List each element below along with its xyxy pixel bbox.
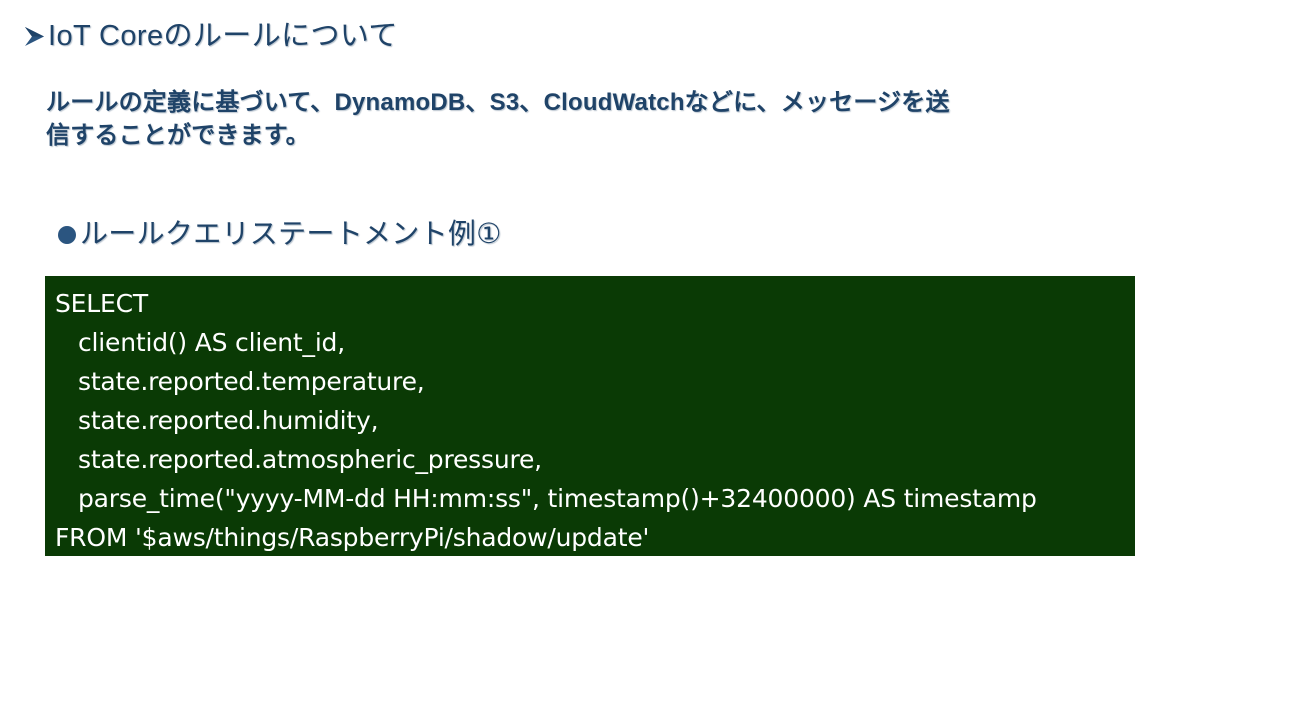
body-paragraph-line-1: ルールの定義に基づいて、DynamoDB、S3、CloudWatchなどに、メッ… <box>46 86 1116 119</box>
code-line: state.reported.temperature, <box>45 362 1135 401</box>
code-line: parse_time("yyyy-MM-dd HH:mm:ss", timest… <box>45 479 1135 518</box>
code-line: state.reported.humidity, <box>45 401 1135 440</box>
sql-code-block: SELECT clientid() AS client_id, state.re… <box>45 276 1135 556</box>
slide-canvas: IoT Coreのルールについて ルールの定義に基づいて、DynamoDB、S3… <box>0 0 1292 703</box>
section-subheading-label: ルールクエリステートメント例① <box>80 215 502 253</box>
arrowhead-bullet-icon <box>22 20 48 54</box>
code-line: SELECT <box>45 284 1135 323</box>
section-subheading: ルールクエリステートメント例① <box>56 215 502 253</box>
slide-title: IoT Coreのルールについて <box>22 18 398 54</box>
code-line: FROM '$aws/things/RaspberryPi/shadow/upd… <box>45 518 1135 556</box>
code-line: clientid() AS client_id, <box>45 323 1135 362</box>
body-paragraph: ルールの定義に基づいて、DynamoDB、S3、CloudWatchなどに、メッ… <box>46 86 1116 152</box>
page-title: IoT Coreのルールについて <box>48 18 398 54</box>
filled-circle-bullet-icon <box>56 223 80 247</box>
code-line: state.reported.atmospheric_pressure, <box>45 440 1135 479</box>
body-paragraph-line-2: 信することができます。 <box>46 119 1116 152</box>
